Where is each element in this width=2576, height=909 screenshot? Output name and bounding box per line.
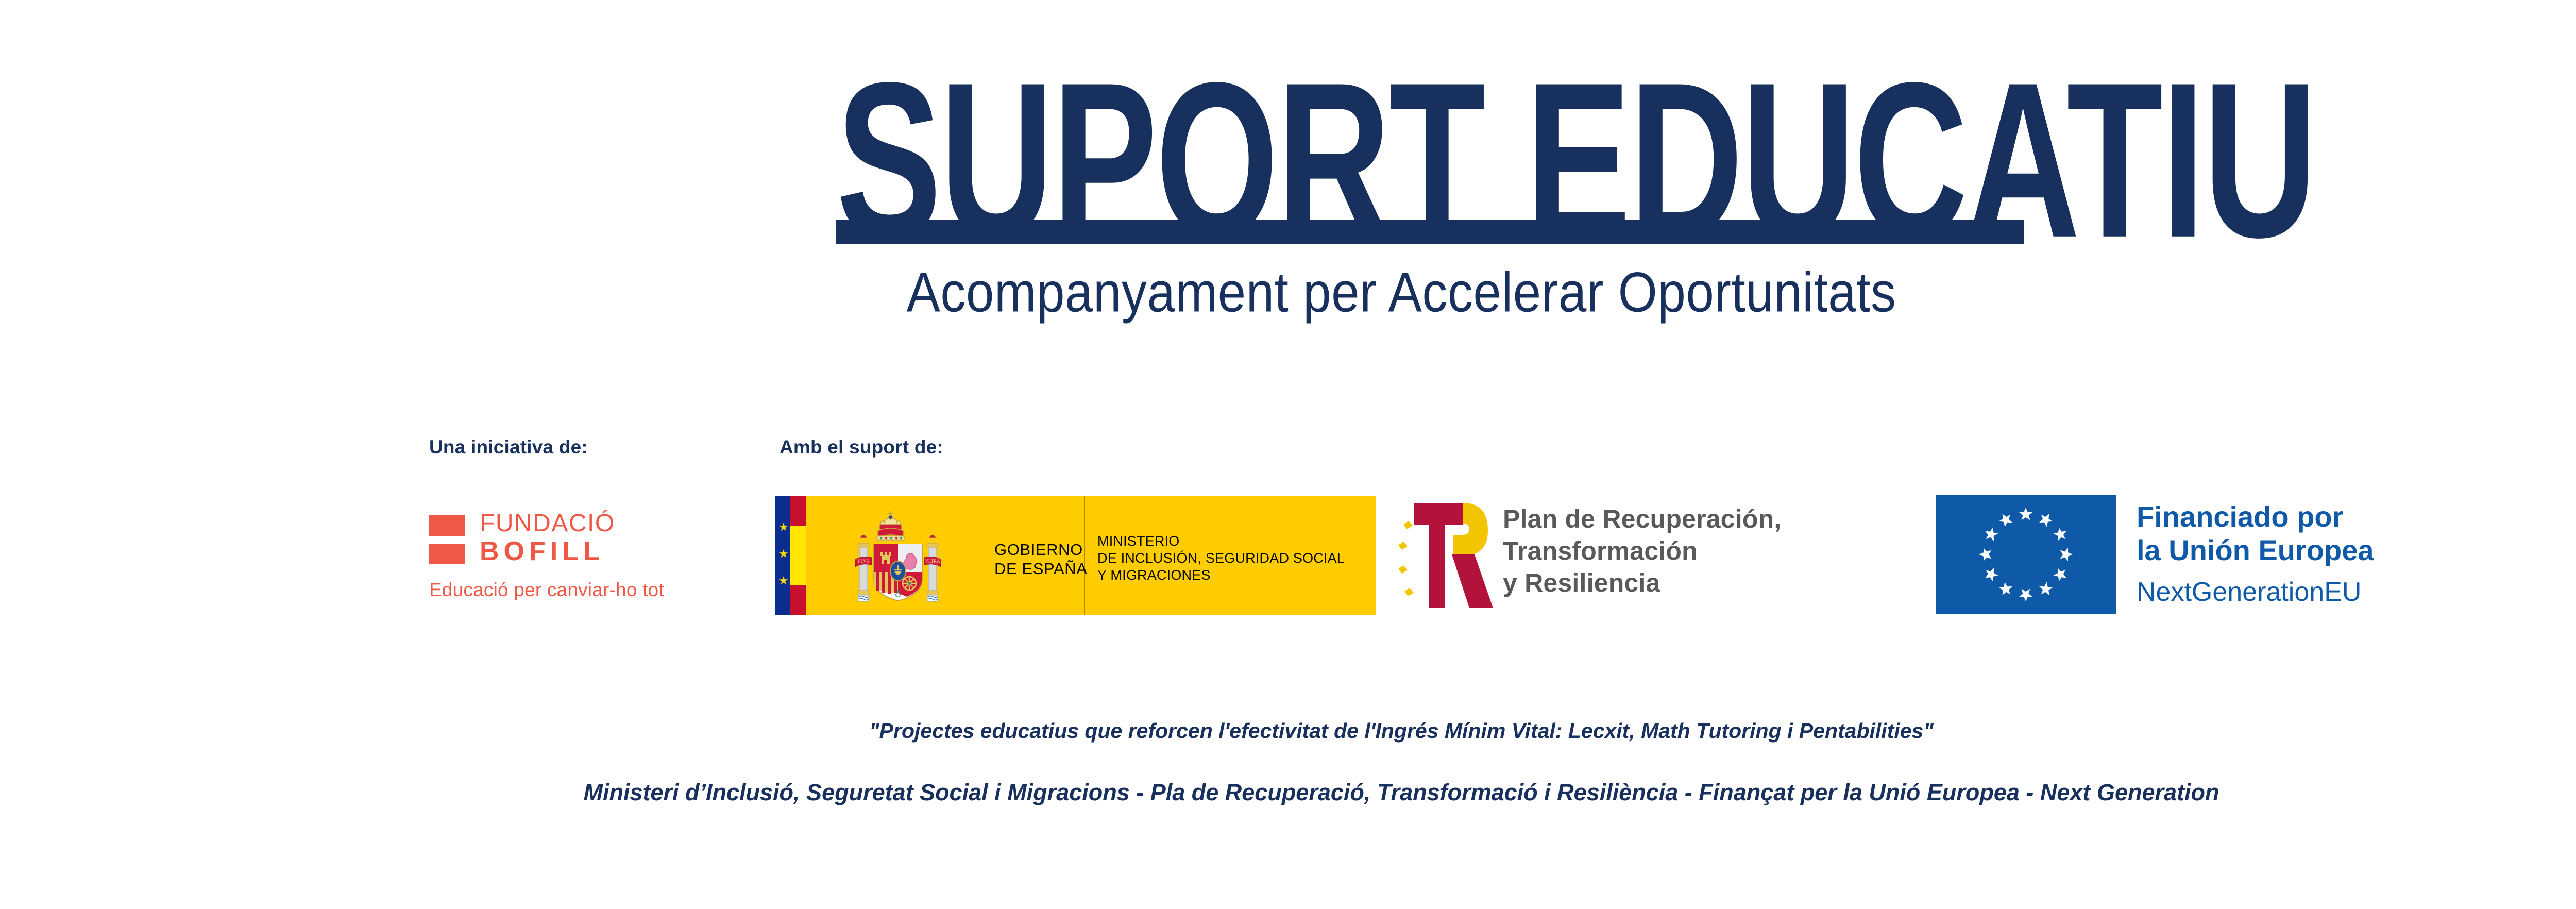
- ministerio-text: MINISTERIO DE INCLUSIÓN, SEGURIDAD SOCIA…: [1097, 533, 1345, 584]
- svg-text:PLVS: PLVS: [858, 559, 869, 564]
- plan-recuperacion-text: Plan de Recuperación, Transformación y R…: [1503, 503, 1781, 599]
- gobierno-text: GOBIERNO DE ESPAÑA: [994, 540, 1088, 578]
- eu-star-icon: ★: [778, 549, 787, 558]
- financiado-text: Financiado por la Unión Europea: [2137, 500, 2374, 567]
- eu-star-icon: ★: [778, 523, 787, 531]
- financiado-line1: Financiado por: [2137, 500, 2374, 533]
- caption-initiative: Una iniciativa de:: [429, 437, 588, 458]
- plan-line3: y Resiliencia: [1503, 567, 1781, 599]
- gobierno-line1: GOBIERNO: [994, 540, 1088, 559]
- ministerio-line2: DE INCLUSIÓN, SEGURIDAD SOCIAL: [1097, 550, 1345, 567]
- gobierno-line2: DE ESPAÑA: [994, 559, 1088, 578]
- eu-stars-icon: [1936, 495, 2116, 614]
- nextgenerationeu-text: NextGenerationEU: [2137, 577, 2361, 607]
- plan-line2: Transformación: [1503, 535, 1781, 567]
- bofill-bar-bottom: [429, 544, 465, 564]
- title-underline-bar: [836, 220, 2024, 244]
- page-subtitle-text: Acompanyament per Accelerar Oportunitats: [906, 262, 1896, 322]
- logo-gobierno-de-espana: ★ ★ ★: [775, 496, 1376, 615]
- tr-mark-icon: [1397, 494, 1495, 615]
- bofill-bar-top: [429, 515, 465, 536]
- page-title: SUPORT EDUCATIU: [836, 49, 2024, 220]
- eu-strip-icon: ★ ★ ★: [775, 496, 790, 615]
- logo-fundacio-bofill: FUNDACIÓ BOFILL Educació per canviar-ho …: [429, 513, 671, 611]
- page-subtitle: Acompanyament per Accelerar Oportunitats: [0, 262, 2576, 315]
- header-block: SUPORT EDUCATIU Acompanyament per Accele…: [0, 0, 2576, 361]
- svg-text:VLTRA: VLTRA: [925, 559, 940, 564]
- bofill-bars-icon: [429, 515, 465, 567]
- spain-flag-yellow-band: [790, 526, 806, 585]
- footnote-funding-line: Ministeri d’Inclusió, Seguretat Social i…: [0, 779, 2576, 806]
- eu-star-icon: ★: [778, 576, 787, 585]
- flag-strip-icon: ★ ★ ★: [775, 496, 806, 615]
- eu-flag-icon: [1936, 495, 2116, 614]
- footnote-project-title: "Projectes educatius que reforcen l'efec…: [0, 718, 2576, 743]
- spain-coat-of-arms-icon: PLVS VLTRA: [851, 508, 945, 605]
- logo-union-europea: Financiado por la Unión Europea NextGene…: [1936, 495, 2487, 614]
- bofill-name-line1: FUNDACIÓ: [480, 510, 615, 537]
- bofill-name-line2: BOFILL: [480, 537, 604, 566]
- financiado-line2: la Unión Europea: [2137, 533, 2374, 567]
- logo-plan-recuperacion: Plan de Recuperación, Transformación y R…: [1397, 494, 1918, 615]
- ministerio-line3: Y MIGRACIONES: [1097, 567, 1345, 584]
- plan-line1: Plan de Recuperación,: [1503, 503, 1781, 535]
- ministerio-line1: MINISTERIO: [1097, 533, 1345, 550]
- caption-support: Amb el suport de:: [779, 437, 943, 458]
- bofill-tagline: Educació per canviar-ho tot: [429, 580, 664, 600]
